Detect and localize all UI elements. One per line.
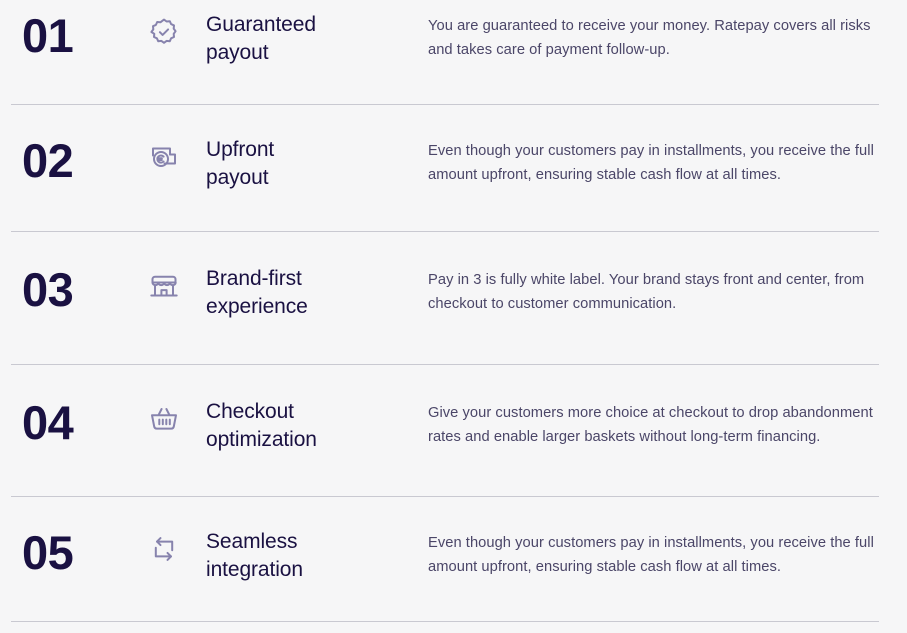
- feature-title-line1: Brand-first: [206, 265, 428, 293]
- feature-title-line1: Upfront: [206, 136, 428, 164]
- feature-number: 04: [0, 397, 148, 446]
- feature-row: 05 Seamless integration Even though your…: [0, 497, 907, 622]
- feature-description: You are guaranteed to receive your money…: [428, 10, 907, 63]
- euro-money-icon: [148, 135, 206, 173]
- feature-row: 03 Brand-first experience Pay in 3 is fu…: [0, 232, 907, 365]
- feature-number: 05: [0, 527, 148, 576]
- feature-title-line1: Guaranteed: [206, 11, 428, 39]
- feature-row: 01 Guaranteed payout You are guaranteed …: [0, 0, 907, 105]
- feature-title-line2: optimization: [206, 426, 428, 454]
- feature-title-line2: payout: [206, 164, 428, 192]
- row-divider: [11, 621, 879, 622]
- feature-title-line2: integration: [206, 556, 428, 584]
- feature-row: 02 Upfront payout Even though your custo…: [0, 105, 907, 232]
- feature-description: Even though your customers pay in instal…: [428, 135, 907, 188]
- feature-title: Upfront payout: [206, 135, 428, 191]
- feature-title-line1: Checkout: [206, 398, 428, 426]
- feature-title-line2: experience: [206, 293, 428, 321]
- feature-title: Seamless integration: [206, 527, 428, 583]
- feature-description: Give your customers more choice at check…: [428, 397, 907, 450]
- feature-title-line1: Seamless: [206, 528, 428, 556]
- feature-number: 03: [0, 264, 148, 313]
- feature-number: 02: [0, 135, 148, 184]
- sync-arrows-icon: [148, 527, 206, 565]
- storefront-icon: [148, 264, 206, 302]
- verified-badge-icon: [148, 10, 206, 48]
- feature-number: 01: [0, 10, 148, 59]
- feature-description: Even though your customers pay in instal…: [428, 527, 907, 580]
- shopping-basket-icon: [148, 397, 206, 435]
- feature-title: Brand-first experience: [206, 264, 428, 320]
- feature-row: 04 Checkout optimization Give your custo…: [0, 365, 907, 497]
- feature-title-line2: payout: [206, 39, 428, 67]
- feature-description: Pay in 3 is fully white label. Your bran…: [428, 264, 907, 317]
- feature-title: Guaranteed payout: [206, 10, 428, 66]
- feature-list: 01 Guaranteed payout You are guaranteed …: [0, 0, 907, 633]
- feature-title: Checkout optimization: [206, 397, 428, 453]
